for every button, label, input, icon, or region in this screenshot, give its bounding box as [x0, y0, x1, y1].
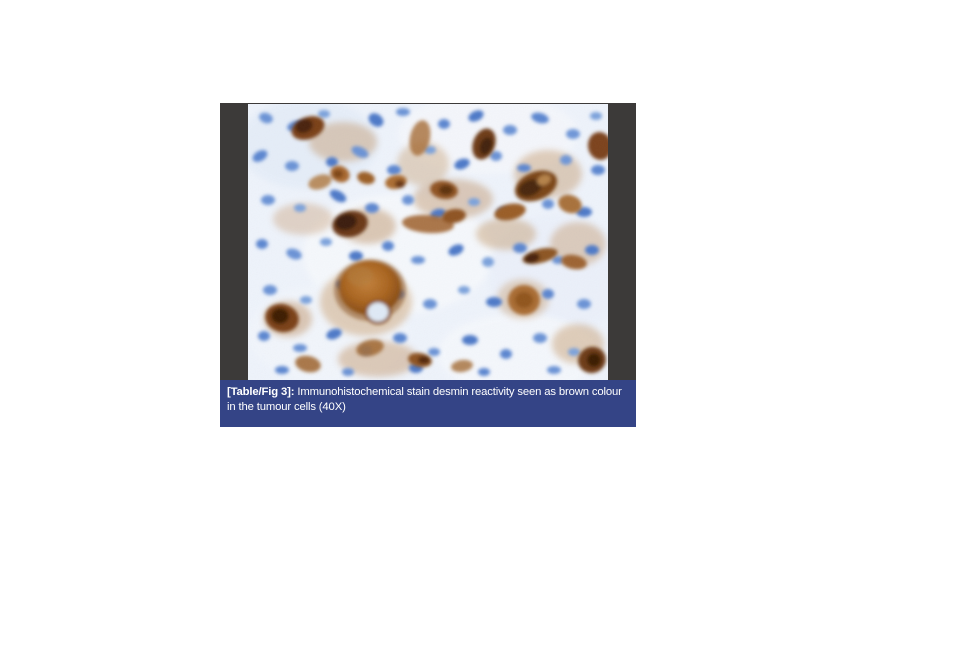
figure-caption-label: [Table/Fig 3]:: [227, 386, 294, 398]
figure-block: [Table/Fig 3]: Immunohistochemical stain…: [220, 103, 636, 427]
micrograph-image: [248, 104, 608, 380]
figure-frame: [220, 103, 636, 380]
figure-caption: [Table/Fig 3]: Immunohistochemical stain…: [220, 380, 636, 427]
micrograph-svg: [248, 104, 608, 380]
